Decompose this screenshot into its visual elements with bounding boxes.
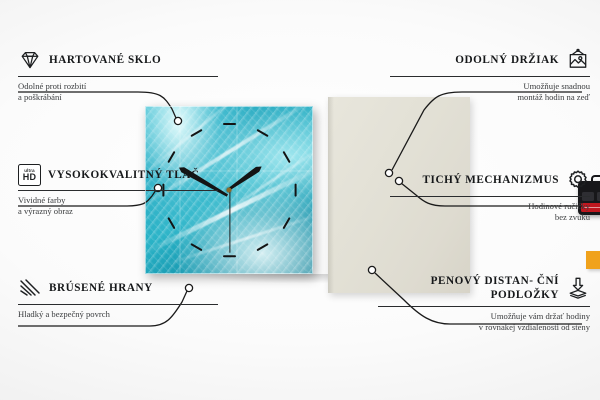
feature-header: ultra HD VYSOKOKVALITNÝ TLAČ (18, 164, 218, 186)
feature-polished-edges: BRÚSENÉ HRANY Hladký a bezpečný povrch (18, 276, 218, 320)
ultra-hd-badge-icon: ultra HD (18, 164, 41, 186)
feature-description: Hladký a bezpečný povrch (18, 309, 218, 320)
feature-divider (18, 76, 218, 77)
arrow-onto-layers-icon (566, 276, 590, 300)
feature-description: Umožňuje vám držať hodiny v rovnakej vzd… (378, 311, 590, 334)
feature-header: HARTOVANÉ SKLO (18, 48, 218, 72)
feature-title: HARTOVANÉ SKLO (49, 53, 161, 67)
clock-center-cap (227, 188, 232, 193)
feature-description: Odolné proti rozbití a poškrábání (18, 81, 218, 104)
diagonal-lines-icon (18, 276, 42, 300)
feature-description: Umožňuje snadnou montáž hodin na zeď (390, 81, 590, 104)
feature-description: Hodinové ručičky bez zvuku (390, 201, 590, 224)
foam-distance-pad (586, 251, 600, 269)
clock-tick (294, 183, 296, 196)
feature-title: TICHÝ MECHANIZMUS (423, 173, 559, 187)
feature-divider (18, 304, 218, 305)
feature-foam-spacers: PENOVÝ DISTAN- ČNÍ PODLOŽKY Umožňuje vám… (378, 274, 590, 334)
feature-header: ODOLNÝ DRŽIAK (390, 48, 590, 72)
feature-header: PENOVÝ DISTAN- ČNÍ PODLOŽKY (378, 274, 590, 302)
feature-header: TICHÝ MECHANIZMUS (390, 168, 590, 192)
clock-tick (223, 255, 236, 257)
feature-silent-mechanism: TICHÝ MECHANIZMUS Hodinové ručičky bez z… (390, 168, 590, 224)
feature-title: ODOLNÝ DRŽIAK (455, 53, 559, 67)
feature-title: BRÚSENÉ HRANY (49, 281, 153, 295)
feature-divider (378, 306, 590, 307)
glass-reflection (236, 106, 238, 274)
feature-high-quality-print: ultra HD VYSOKOKVALITNÝ TLAČ Vividné far… (18, 164, 218, 218)
ultra-hd-badge-main-text: HD (23, 173, 36, 182)
feature-header: BRÚSENÉ HRANY (18, 276, 218, 300)
infographic-canvas: HARTOVANÉ SKLO Odolné proti rozbití a po… (0, 0, 600, 400)
clock-tick (223, 123, 236, 125)
feature-divider (390, 76, 590, 77)
feature-divider (18, 190, 218, 191)
diamond-icon (18, 48, 42, 72)
feature-tempered-glass: HARTOVANÉ SKLO Odolné proti rozbití a po… (18, 48, 218, 104)
feature-title: VYSOKOKVALITNÝ TLAČ (48, 168, 199, 182)
hanging-picture-frame-icon (566, 48, 590, 72)
feature-title: PENOVÝ DISTAN- ČNÍ PODLOŽKY (378, 274, 559, 302)
second-hand (229, 191, 230, 253)
feature-divider (390, 196, 590, 197)
feature-description: Vividné farby a výrazný obraz (18, 195, 218, 218)
gear-icon (566, 168, 590, 192)
feature-durable-holder: ODOLNÝ DRŽIAK Umožňuje snadnou montáž ho… (390, 48, 590, 104)
